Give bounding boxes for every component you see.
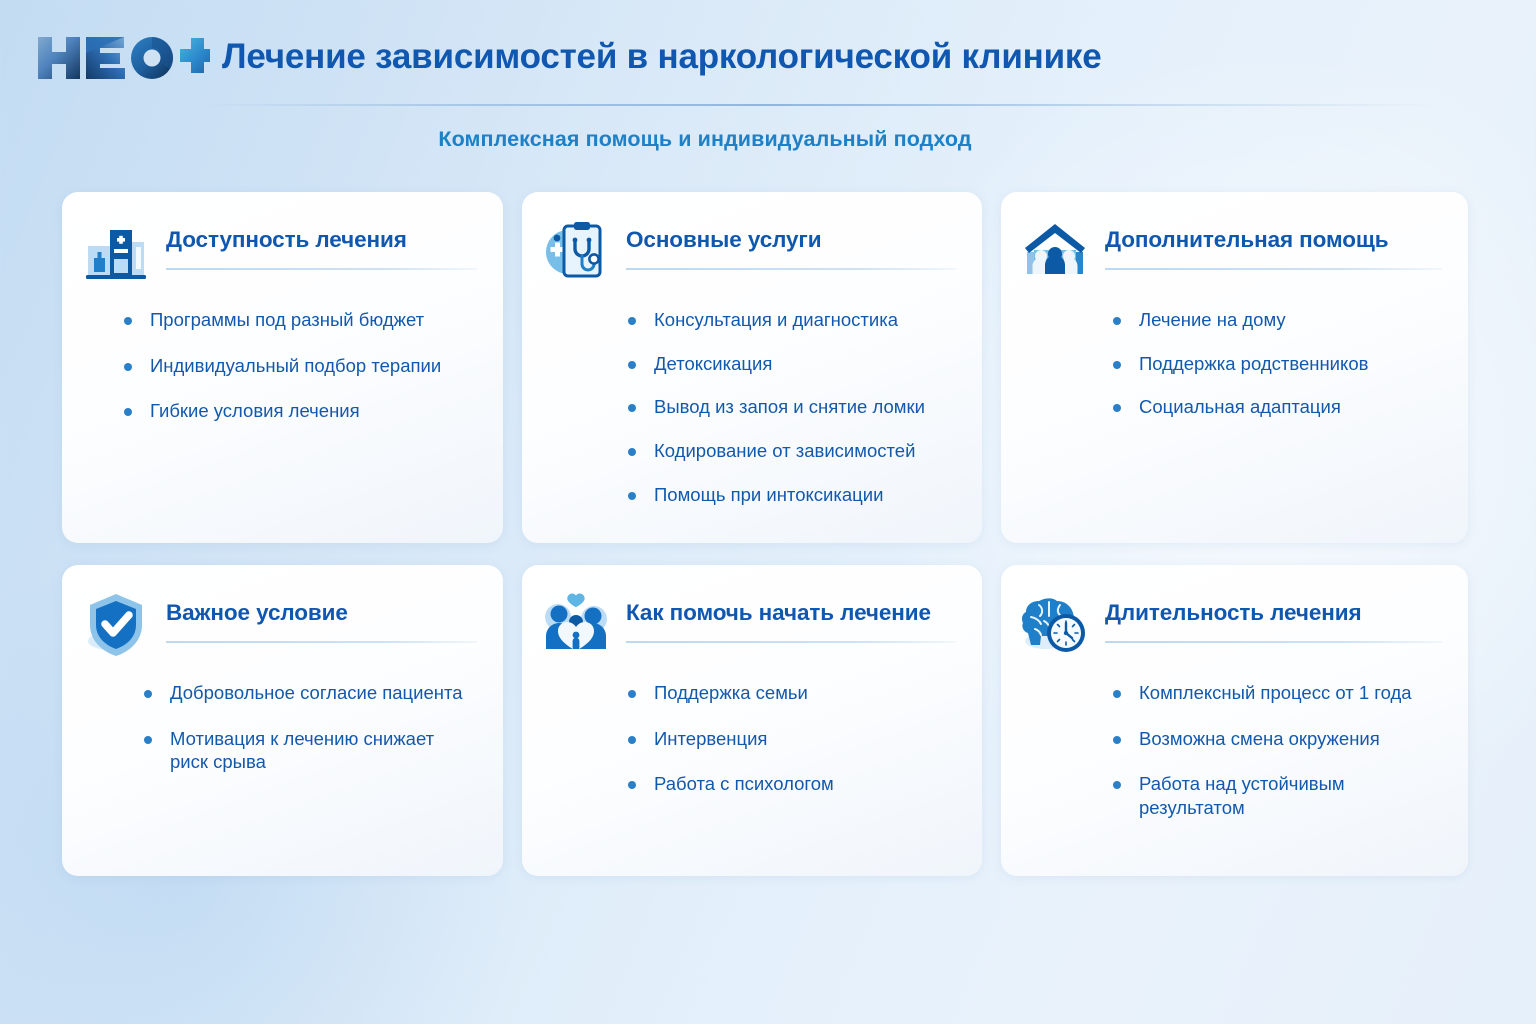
card-title-wrap: Дополнительная помощь (1105, 214, 1442, 270)
card-title: Доступность лечения (166, 228, 477, 252)
card-important-condition[interactable]: Важное условие Добровольное согласие пац… (62, 565, 503, 876)
card-header: Как помочь начать лечение (540, 587, 956, 661)
list-item: Возможна смена окружения (1113, 727, 1442, 751)
hospital-building-icon (80, 216, 152, 288)
card-title-wrap: Доступность лечения (166, 214, 477, 270)
card-header: Дополнительная помощь (1019, 214, 1442, 288)
card-title: Как помочь начать лечение (626, 601, 956, 625)
card-title-underline (166, 268, 477, 270)
shield-check-icon (80, 589, 152, 661)
family-heart-icon (540, 589, 612, 661)
brain-clock-icon (1019, 589, 1091, 661)
card-header: Доступность лечения (80, 214, 477, 288)
card-title-underline (1105, 268, 1442, 270)
list-item: Вывод из запоя и снятие ломки (628, 395, 956, 419)
card-title: Дополнительная помощь (1105, 228, 1442, 252)
header-divider (200, 104, 1440, 106)
card-bullet-list: Программы под разный бюджет Индивидуальн… (124, 308, 477, 423)
card-additional-help[interactable]: Дополнительная помощь Лечение на дому По… (1001, 192, 1468, 543)
card-treatment-duration[interactable]: Длительность лечения Комплексный процесс… (1001, 565, 1468, 876)
page-subtitle: Комплексная помощь и индивидуальный подх… (0, 127, 1410, 152)
list-item: Социальная адаптация (1113, 395, 1442, 419)
card-header: Длительность лечения (1019, 587, 1442, 661)
card-how-to-start-treatment[interactable]: Как помочь начать лечение Поддержка семь… (522, 565, 982, 876)
list-item: Интервенция (628, 727, 956, 751)
clipboard-stethoscope-icon (540, 216, 612, 288)
list-item: Программы под разный бюджет (124, 308, 477, 332)
list-item: Поддержка семьи (628, 681, 956, 705)
list-item: Кодирование от зависимостей (628, 439, 956, 463)
list-item: Помощь при интоксикации (628, 483, 956, 507)
list-item: Мотивация к лечению снижает риск срыва (144, 727, 477, 774)
card-bullet-list: Добровольное согласие пациента Мотивация… (144, 681, 477, 774)
list-item: Детоксикация (628, 352, 956, 376)
list-item: Работа с психологом (628, 772, 956, 796)
list-item: Поддержка родственников (1113, 352, 1442, 376)
card-title-wrap: Основные услуги (626, 214, 956, 270)
card-title-wrap: Длительность лечения (1105, 587, 1442, 643)
card-bullet-list: Комплексный процесс от 1 года Возможна с… (1113, 681, 1442, 820)
card-bullet-list: Лечение на дому Поддержка родственников … (1113, 308, 1442, 419)
card-main-services[interactable]: Основные услуги Консультация и диагности… (522, 192, 982, 543)
card-title: Длительность лечения (1105, 601, 1442, 625)
card-title-underline (1105, 641, 1442, 643)
card-title: Важное условие (166, 601, 477, 625)
card-header: Важное условие (80, 587, 477, 661)
card-header: Основные услуги (540, 214, 956, 288)
list-item: Консультация и диагностика (628, 308, 956, 332)
card-title-wrap: Как помочь начать лечение (626, 587, 956, 643)
card-bullet-list: Консультация и диагностика Детоксикация … (628, 308, 956, 506)
page-title: Лечение зависимостей в наркологической к… (222, 39, 1102, 74)
list-item: Лечение на дому (1113, 308, 1442, 332)
list-item: Индивидуальный подбор терапии (124, 354, 477, 378)
card-treatment-availability[interactable]: Доступность лечения Программы под разный… (62, 192, 503, 543)
card-title: Основные услуги (626, 228, 956, 252)
card-bullet-list: Поддержка семьи Интервенция Работа с пси… (628, 681, 956, 796)
card-title-wrap: Важное условие (166, 587, 477, 643)
home-family-cross-icon (1019, 216, 1091, 288)
list-item: Комплексный процесс от 1 года (1113, 681, 1442, 705)
card-title-underline (626, 641, 956, 643)
neo-plus-logo-icon (34, 27, 210, 87)
list-item: Добровольное согласие пациента (144, 681, 477, 705)
card-title-underline (626, 268, 956, 270)
card-title-underline (166, 641, 477, 643)
list-item: Гибкие условия лечения (124, 399, 477, 423)
page-header: Лечение зависимостей в наркологической к… (0, 0, 1536, 112)
list-item: Работа над устойчивым результатом (1113, 772, 1442, 819)
cards-grid: Доступность лечения Программы под разный… (62, 192, 1474, 876)
